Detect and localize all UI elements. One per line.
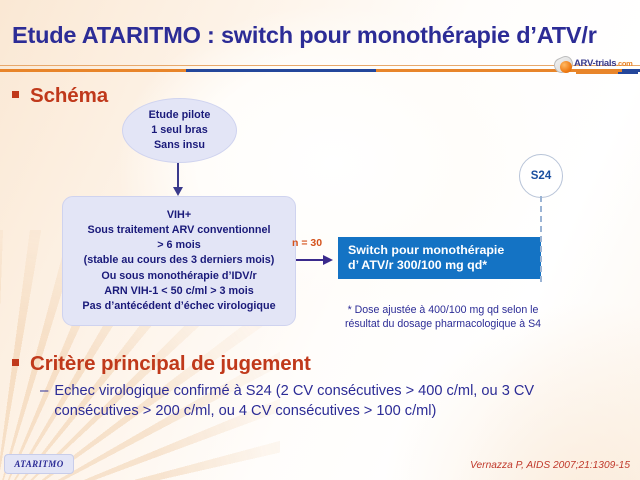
header-rule-orange-left — [0, 69, 186, 72]
logo-text: ARV-trials.com — [574, 58, 633, 69]
inclusion-line-4: (stable au cours des 3 derniers mois) — [84, 253, 275, 268]
criteria-text: Echec virologique confirmé à S24 (2 CV c… — [54, 381, 609, 421]
inclusion-line-1: VIH+ — [167, 208, 191, 223]
timepoint-label: S24 — [531, 170, 551, 182]
footnote-line-1: * Dose ajustée à 400/100 mg qd selon le — [318, 303, 568, 317]
inclusion-line-3: > 6 mois — [157, 238, 201, 253]
header-rule-blue-mid — [186, 69, 376, 72]
timepoint-s24-badge: S24 — [519, 154, 563, 198]
logo-suffix: .com — [616, 59, 632, 68]
bullet-square-icon — [12, 359, 19, 366]
switch-treatment-box: Switch pour monothérapie d’ ATV/r 300/10… — [338, 237, 541, 279]
inclusion-line-2: Sous traitement ARV conventionnel — [88, 223, 271, 238]
footer-study-badge: ATARITMO — [4, 454, 74, 474]
logo-underline-blue — [618, 72, 638, 74]
footer-study-label: ATARITMO — [14, 459, 63, 469]
arrow-down-to-inclusion — [177, 163, 179, 188]
inclusion-line-6: ARN VIH-1 < 50 c/ml > 3 mois — [104, 284, 253, 299]
header-rule-hairline — [0, 65, 640, 66]
criteria-bullet: – Echec virologique confirmé à S24 (2 CV… — [40, 381, 609, 421]
capsule-icon — [560, 61, 572, 73]
section-label: Schéma — [30, 84, 108, 108]
design-line-3: Sans insu — [154, 138, 205, 153]
bullet-square-icon — [12, 91, 19, 98]
design-ellipse: Etude pilote 1 seul bras Sans insu — [122, 98, 237, 163]
footer-citation: Vernazza P, AIDS 2007;21:1309-15 — [470, 460, 630, 471]
slide: Etude ATARITMO : switch pour monothérapi… — [0, 0, 640, 480]
arrow-right-to-switch — [296, 259, 324, 261]
switch-line-1: Switch pour monothérapie — [348, 243, 541, 259]
section-heading-schema: Schéma — [12, 84, 108, 108]
page-title: Etude ATARITMO : switch pour monothérapi… — [12, 22, 628, 49]
dose-footnote: * Dose ajustée à 400/100 mg qd selon le … — [318, 303, 568, 331]
section-label: Critère principal de jugement — [30, 352, 311, 376]
logo-name: ARV-trials — [574, 58, 616, 69]
inclusion-line-7: Pas d’antécédent d’échec virologique — [82, 299, 275, 314]
design-line-2: 1 seul bras — [151, 123, 207, 138]
section-heading-critere: Critère principal de jugement — [12, 352, 311, 376]
switch-line-2: d’ ATV/r 300/100 mg qd* — [348, 258, 541, 274]
logo-underline-orange — [576, 72, 618, 74]
footnote-line-2: résultat du dosage pharmacologique à S4 — [318, 317, 568, 331]
timepoint-dashed-line — [540, 196, 542, 282]
dash-marker: – — [40, 381, 48, 401]
inclusion-line-5: Ou sous monothérapie d’IDV/r — [101, 269, 256, 284]
design-line-1: Etude pilote — [149, 108, 211, 123]
arv-trials-logo: ARV-trials.com — [552, 56, 638, 80]
inclusion-criteria-box: VIH+ Sous traitement ARV conventionnel >… — [62, 196, 296, 326]
n-label: n = 30 — [292, 237, 322, 249]
